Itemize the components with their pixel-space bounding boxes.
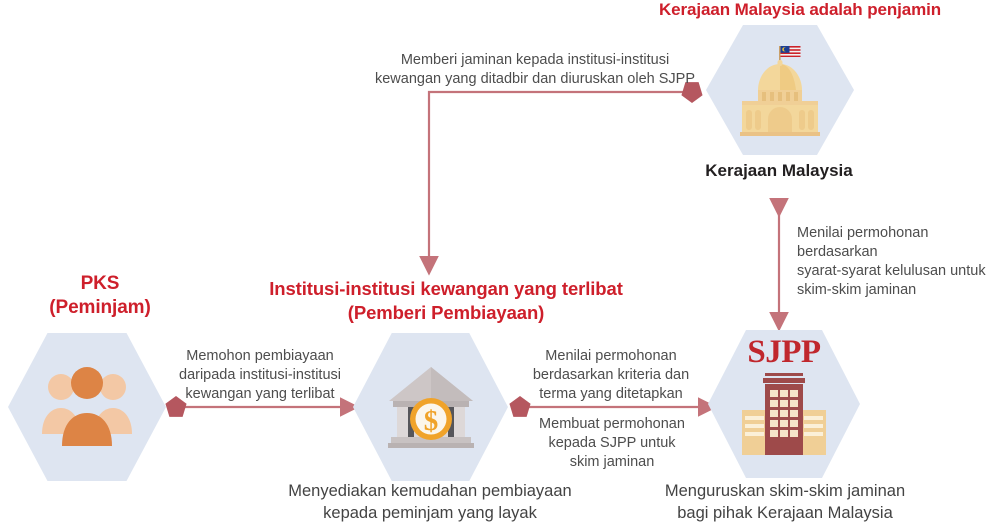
- node-pks-peminjam[interactable]: [8, 333, 166, 481]
- arrow-label-line2: daripada institusi-institusi: [168, 366, 352, 385]
- caption-line1: Menguruskan skim-skim jaminan: [644, 480, 926, 502]
- arrow-label-line2: syarat-syarat kelulusan untuk: [797, 262, 1000, 281]
- node-kerajaan-malaysia[interactable]: [706, 25, 854, 155]
- caption-line2: kepada peminjam yang layak: [255, 502, 605, 524]
- caption-sjpp: Menguruskan skim-skim jaminan bagi pihak…: [644, 480, 926, 525]
- arrow-label-line2: kewangan yang ditadbir dan diuruskan ole…: [370, 70, 700, 89]
- title-kerajaan-penjamin: Kerajaan Malaysia adalah penjamin: [610, 0, 990, 21]
- title-pks: PKS (Peminjam): [0, 272, 200, 321]
- caption-institusi: Menyediakan kemudahan pembiayaan kepada …: [255, 480, 605, 525]
- svg-text:$: $: [423, 405, 438, 437]
- arrow-label-line3: kewangan yang terlibat: [168, 385, 352, 404]
- arrow-label-line3: skim jaminan: [524, 453, 700, 472]
- arrow-label-pks-to-institusi: Memohon pembiayaan daripada institusi-in…: [168, 347, 352, 404]
- title-pks-line2: (Peminjam): [0, 296, 200, 320]
- caption-line1: Menyediakan kemudahan pembiayaan: [255, 480, 605, 502]
- title-institusi-line1: Institusi-institusi kewangan yang terlib…: [226, 277, 666, 301]
- arrow-label-kerajaan-to-institusi: Memberi jaminan kepada institusi-institu…: [370, 51, 700, 89]
- people-group-icon: [8, 333, 166, 481]
- arrow-label-sjpp-kerajaan: Menilai permohonan berdasarkan syarat-sy…: [797, 224, 1000, 301]
- diagram-canvas: Kerajaan Malaysia adalah penjamin PKS (P…: [0, 0, 1000, 520]
- arrow-label-institusi-assess: Menilai permohonan berdasarkan kriteria …: [518, 347, 704, 404]
- bank-dollar-icon: $: [353, 333, 508, 481]
- label-kerajaan-malaysia: Kerajaan Malaysia: [659, 160, 899, 182]
- arrow-label-line1: Memberi jaminan kepada institusi-institu…: [370, 51, 700, 70]
- title-institusi-line2: (Pemberi Pembiayaan): [226, 301, 666, 325]
- arrow-label-line1: Membuat permohonan: [524, 415, 700, 434]
- arrow-label-line1: Menilai permohonan: [518, 347, 704, 366]
- sjpp-logo-text: SJPP: [708, 334, 860, 371]
- caption-line2: bagi pihak Kerajaan Malaysia: [644, 502, 926, 524]
- arrow-label-line3: terma yang ditetapkan: [518, 385, 704, 404]
- node-sjpp[interactable]: SJPP: [708, 330, 860, 478]
- malaysia-flag-icon: [781, 46, 801, 57]
- title-institusi: Institusi-institusi kewangan yang terlib…: [226, 277, 666, 324]
- arrow-label-institusi-apply: Membuat permohonan kepada SJPP untuk ski…: [524, 415, 700, 472]
- arrow-label-line2: berdasarkan kriteria dan: [518, 366, 704, 385]
- arrow-label-line2: kepada SJPP untuk: [524, 434, 700, 453]
- government-dome-building-icon: [706, 25, 854, 155]
- arrow-label-line1: Memohon pembiayaan: [168, 347, 352, 366]
- title-pks-line1: PKS: [0, 272, 200, 296]
- node-institusi-kewangan[interactable]: $: [353, 333, 508, 481]
- arrow-label-line1: Menilai permohonan berdasarkan: [797, 224, 1000, 262]
- arrow-label-line3: skim-skim jaminan: [797, 281, 1000, 300]
- arrow-kerajaan-to-institusi: [429, 92, 692, 258]
